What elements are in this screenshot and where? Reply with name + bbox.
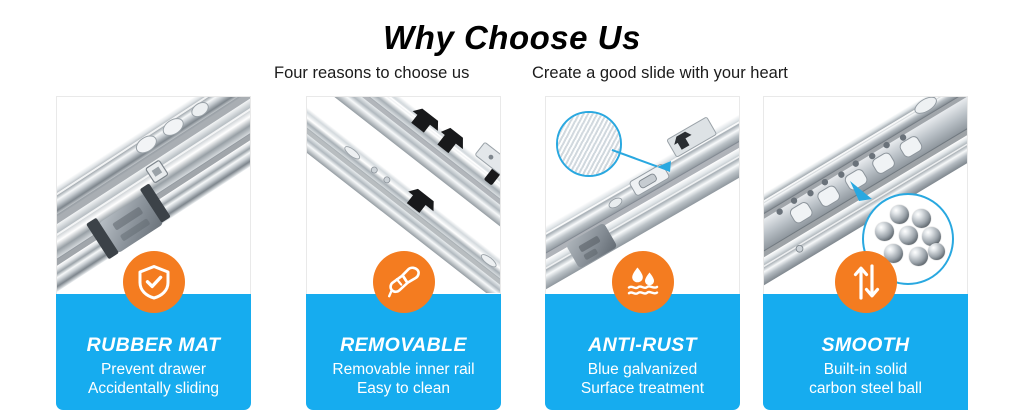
feature-card-anti-rust[interactable]: ANTI-RUST Blue galvanized Surface treatm… (545, 96, 740, 410)
card-desc-line1: Blue galvanized (545, 360, 740, 379)
page-title: Why Choose Us (0, 0, 1024, 56)
card-desc-removable: Removable inner rail Easy to clean (306, 360, 501, 398)
steel-ball (899, 226, 918, 245)
callout-arrow-icon (848, 179, 874, 203)
shield-check-icon (123, 251, 185, 313)
subtitle-row: Four reasons to choose us Create a good … (0, 62, 1024, 86)
steel-ball (875, 222, 894, 241)
up-down-arrows-glyph (851, 264, 881, 300)
feature-card-rubber-mat[interactable]: RUBBER MAT Prevent drawer Accidentally s… (56, 96, 251, 410)
callout-arrow-icon (654, 159, 672, 175)
steel-ball (890, 205, 909, 224)
water-drops-waves-glyph (626, 265, 660, 299)
subtitle-right: Create a good slide with your heart (532, 62, 788, 84)
card-title-rubber-mat: RUBBER MAT (56, 334, 251, 356)
card-desc-line1: Prevent drawer (56, 360, 251, 379)
card-title-anti-rust: ANTI-RUST (545, 334, 740, 356)
feature-card-removable[interactable]: REMOVABLE Removable inner rail Easy to c… (306, 96, 501, 410)
card-desc-line2: Easy to clean (306, 379, 501, 398)
card-title-removable: REMOVABLE (306, 334, 501, 356)
header: Why Choose Us Four reasons to choose us … (0, 0, 1024, 86)
feature-card-smooth[interactable]: SMOOTH Built-in solid carbon steel ball (763, 96, 968, 410)
cleaning-brush-glyph (387, 265, 421, 299)
card-desc-rubber-mat: Prevent drawer Accidentally sliding (56, 360, 251, 398)
card-desc-line1: Removable inner rail (306, 360, 501, 379)
card-desc-line2: carbon steel ball (763, 379, 968, 398)
surface-magnifier-callout (556, 111, 622, 177)
water-drops-waves-icon (612, 251, 674, 313)
up-down-arrows-icon (835, 251, 897, 313)
galvanized-texture (558, 113, 620, 175)
card-title-smooth: SMOOTH (763, 334, 968, 356)
card-desc-line2: Accidentally sliding (56, 379, 251, 398)
card-desc-smooth: Built-in solid carbon steel ball (763, 360, 968, 398)
card-desc-anti-rust: Blue galvanized Surface treatment (545, 360, 740, 398)
card-desc-line2: Surface treatment (545, 379, 740, 398)
shield-check-glyph (137, 264, 171, 300)
steel-ball (909, 247, 928, 266)
steel-ball (912, 209, 931, 228)
steel-ball (928, 243, 945, 260)
subtitle-left: Four reasons to choose us (274, 62, 469, 84)
cleaning-brush-icon (373, 251, 435, 313)
card-desc-line1: Built-in solid (763, 360, 968, 379)
